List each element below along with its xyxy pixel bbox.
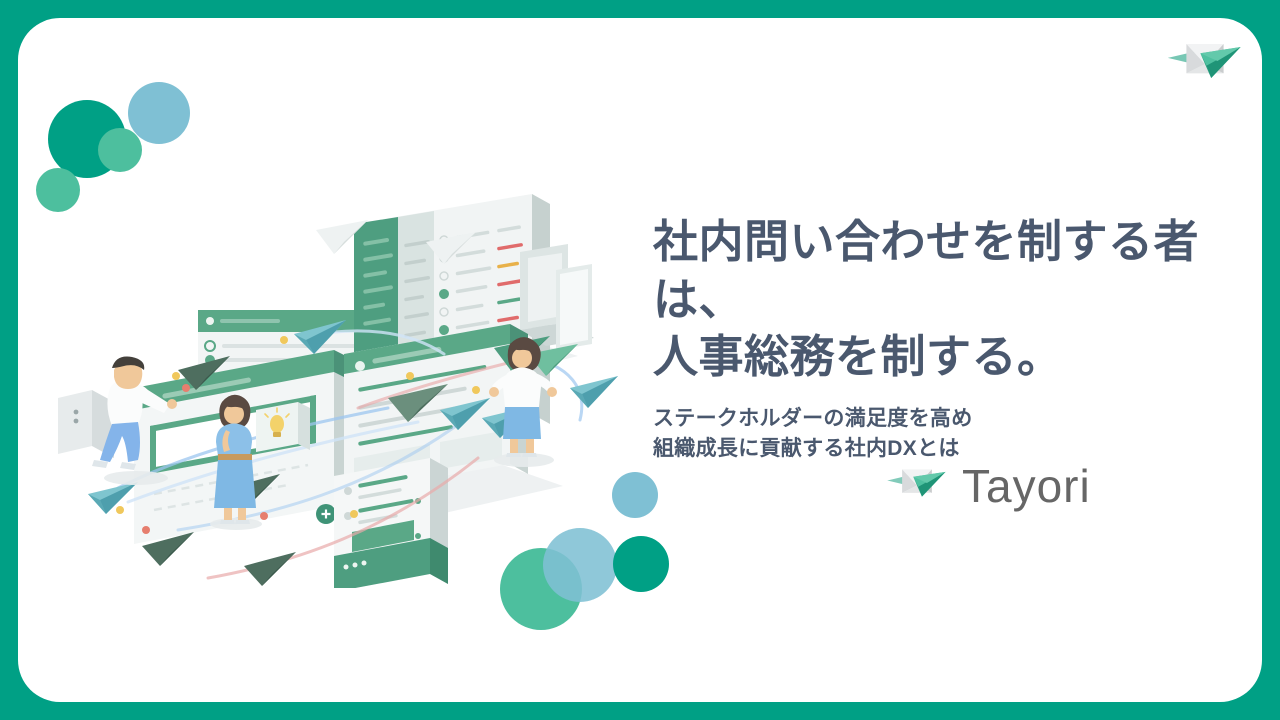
tayori-mark-icon <box>1166 30 1244 92</box>
tayori-envelope-plane-icon <box>886 458 948 513</box>
illus-panel-chat <box>334 458 448 588</box>
circle-blue-top-left <box>128 82 190 144</box>
slide-card: 社内問い合わせを制する者は、 人事総務を制する。 ステークホルダーの満足度を高め… <box>18 18 1262 702</box>
illus-device-laptop <box>520 244 594 350</box>
slide-root: 社内問い合わせを制する者は、 人事総務を制する。 ステークホルダーの満足度を高め… <box>0 0 1280 720</box>
tayori-logo-lockup: Tayori <box>886 458 1091 513</box>
illus-idea-card <box>256 402 310 452</box>
text-column: 社内問い合わせを制する者は、 人事総務を制する。 ステークホルダーの満足度を高め… <box>653 213 1253 465</box>
page-subtitle: ステークホルダーの満足度を高め 組織成長に貢献する社内DXとは <box>653 404 1253 465</box>
page-title: 社内問い合わせを制する者は、 人事総務を制する。 <box>653 213 1253 386</box>
tayori-wordmark: Tayori <box>962 463 1091 509</box>
isometric-internal-inquiry-illustration <box>58 158 678 588</box>
